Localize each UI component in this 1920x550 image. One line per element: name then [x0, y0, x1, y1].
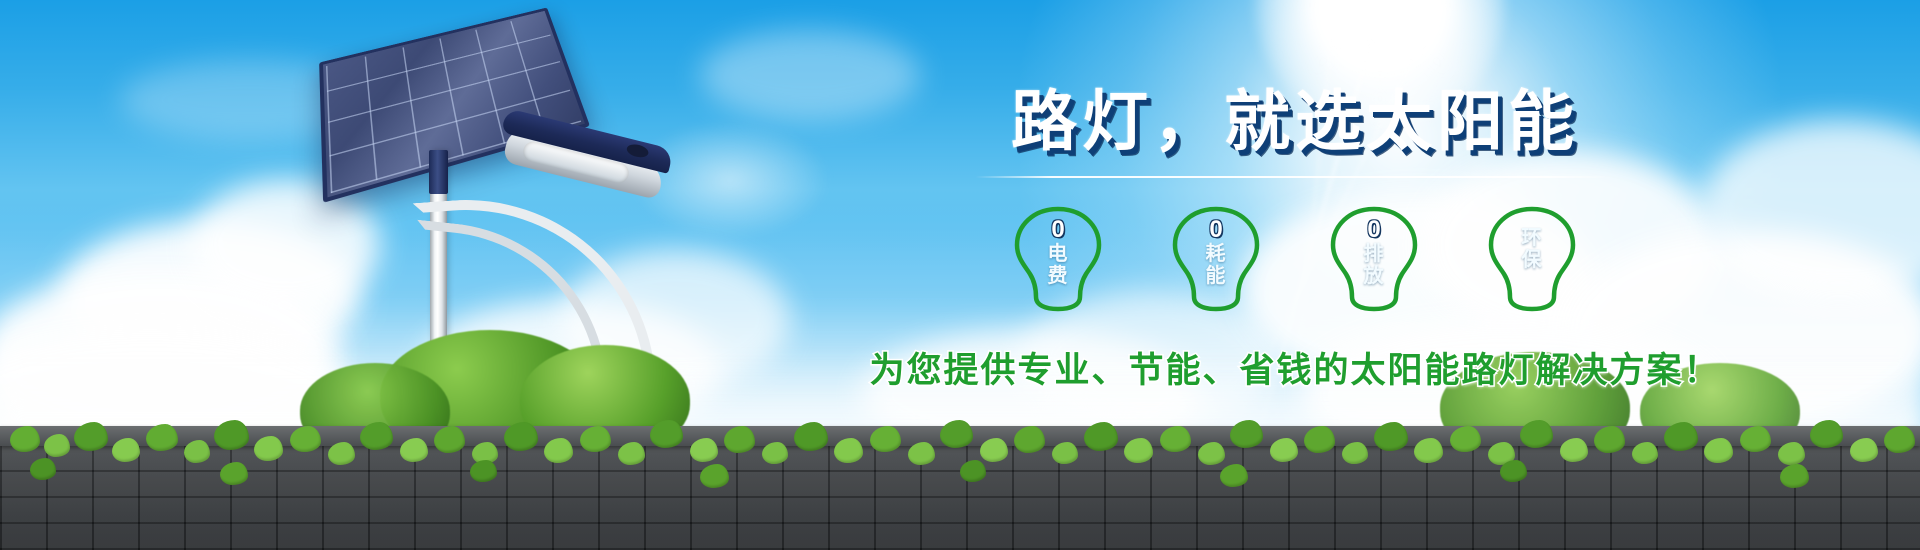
feature-badge-eco-friendly[interactable]: 环 保 [1480, 204, 1584, 312]
badge-label-line: 电 [1006, 244, 1110, 266]
badge-label-line: 费 [1006, 266, 1110, 288]
banner-copy: 路灯，就选太阳能 0 电 费 0 耗 能 [760, 88, 1830, 393]
banner-subtitle: 为您提供专业、节能、省钱的太阳能路灯解决方案！ [760, 342, 1830, 393]
badge-value: 0 [1164, 218, 1268, 242]
badge-label: 环 保 [1480, 228, 1584, 271]
headline-divider [975, 176, 1615, 178]
badge-label-line: 保 [1480, 250, 1584, 272]
badge-value: 0 [1006, 218, 1110, 242]
feature-badge-energy-use[interactable]: 0 耗 能 [1164, 204, 1268, 312]
badge-label-line: 排 [1322, 244, 1426, 266]
feature-badge-emissions[interactable]: 0 排 放 [1322, 204, 1426, 312]
badge-value: 0 [1322, 218, 1426, 242]
badge-label: 耗 能 [1164, 244, 1268, 287]
feature-badge-electricity-cost[interactable]: 0 电 费 [1006, 204, 1110, 312]
badge-label: 排 放 [1322, 244, 1426, 287]
badge-label-line: 放 [1322, 266, 1426, 288]
badge-label-line: 耗 [1164, 244, 1268, 266]
badge-label-line: 能 [1164, 266, 1268, 288]
banner-headline: 路灯，就选太阳能 [760, 88, 1830, 154]
feature-badge-list: 0 电 费 0 耗 能 0 [760, 204, 1830, 312]
badge-label-line: 环 [1480, 228, 1584, 250]
wall-cap [0, 426, 1920, 446]
solar-streetlight-banner: 路灯，就选太阳能 0 电 费 0 耗 能 [0, 0, 1920, 550]
badge-label: 电 费 [1006, 244, 1110, 287]
brick-wall [0, 432, 1920, 550]
lamp-pole-collar [429, 150, 448, 194]
